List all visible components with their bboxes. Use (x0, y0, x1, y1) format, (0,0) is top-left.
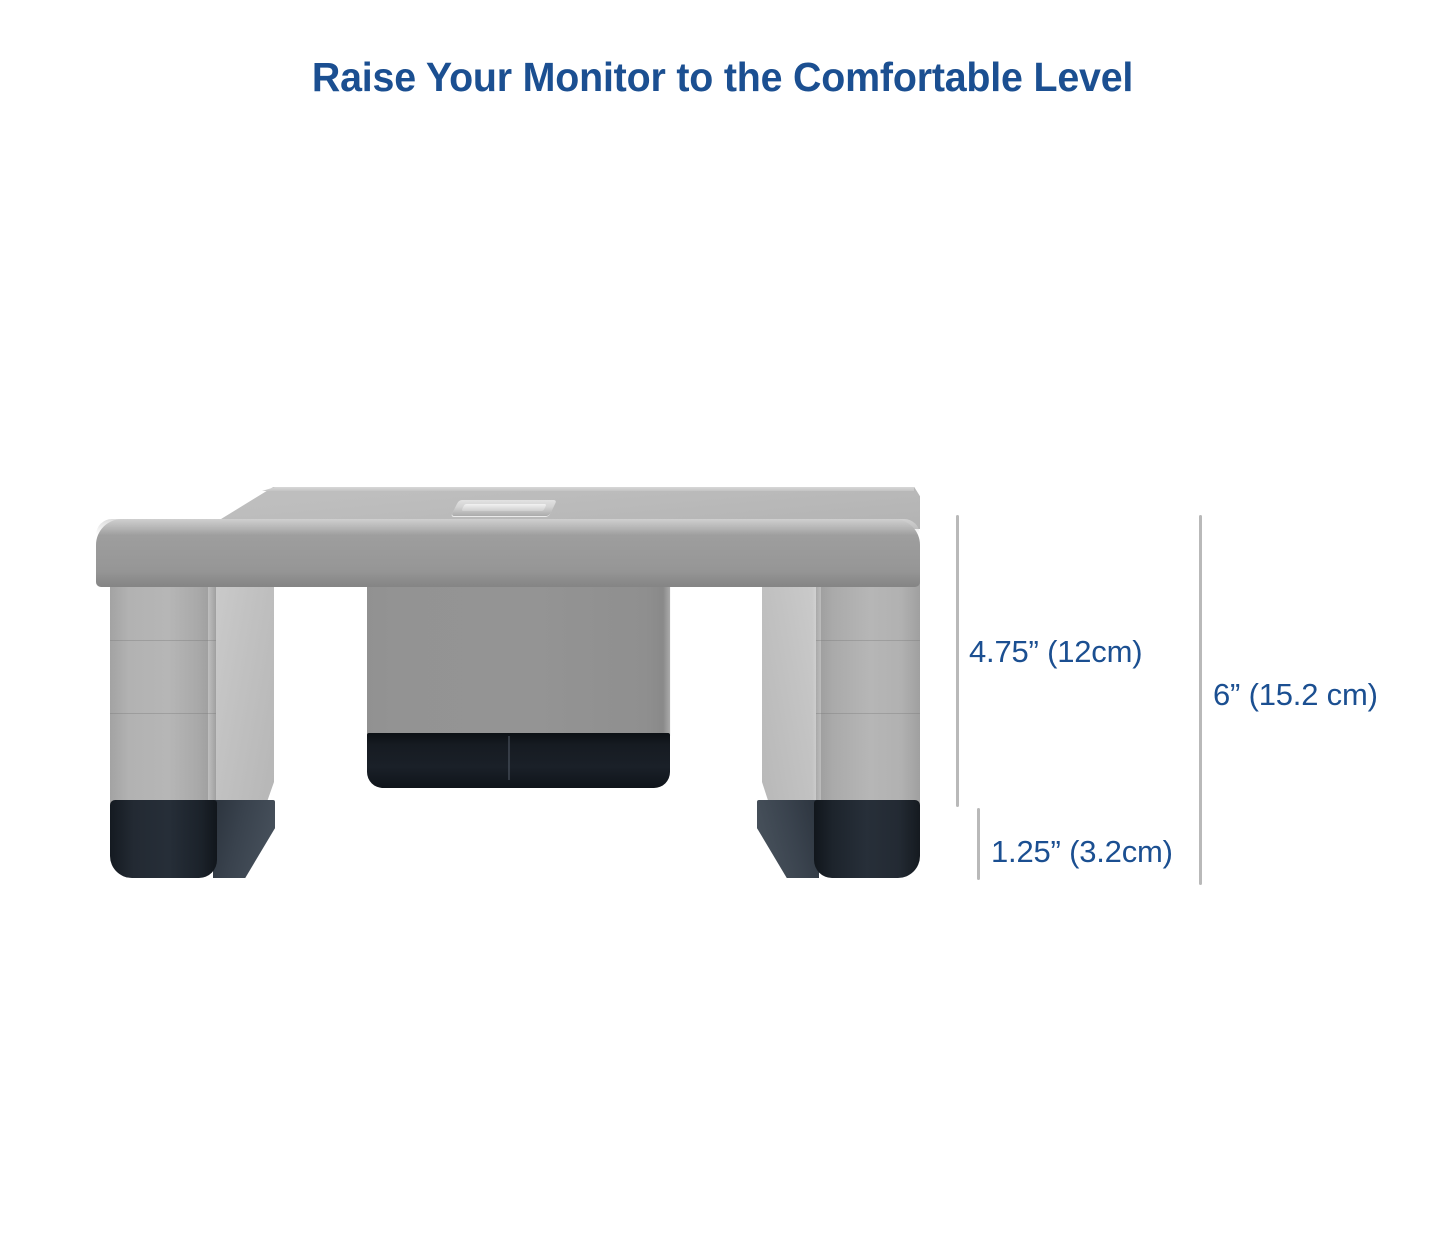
center-support-block (367, 566, 670, 736)
dimension-label-total-height: 6” (15.2 cm) (1213, 677, 1378, 713)
left-rubber-foot (110, 800, 217, 878)
left-foot-side-face (213, 800, 275, 878)
dimension-label-foot-height: 1.25” (3.2cm) (991, 834, 1173, 870)
right-leg-front-face (816, 566, 920, 809)
product-illustration: 4.75” (12cm) 1.25” (3.2cm) 6” (15.2 cm) (0, 0, 1445, 1243)
left-leg-front-face (110, 566, 216, 809)
dimension-line-foot-height (977, 808, 980, 880)
right-rubber-foot (814, 800, 920, 878)
dimension-label-clearance-height: 4.75” (12cm) (969, 634, 1142, 670)
center-base-seam (508, 736, 510, 780)
dimension-line-total-height (1199, 515, 1202, 885)
left-leg-seam (110, 640, 216, 641)
dimension-line-clearance-height (956, 515, 959, 807)
center-rubber-base (367, 733, 670, 788)
right-leg-seam (816, 640, 920, 641)
right-leg-seam (816, 713, 920, 714)
cable-slot-inner (461, 504, 546, 511)
left-leg-seam (110, 713, 216, 714)
right-leg-edge-highlight (812, 566, 821, 809)
right-foot-side-face (757, 800, 819, 878)
center-block-edge (663, 566, 671, 736)
left-leg-edge-highlight (208, 566, 217, 809)
platform-front-shadow (96, 572, 920, 587)
platform-back-rim (262, 487, 914, 491)
platform-front-sheen (96, 519, 920, 535)
